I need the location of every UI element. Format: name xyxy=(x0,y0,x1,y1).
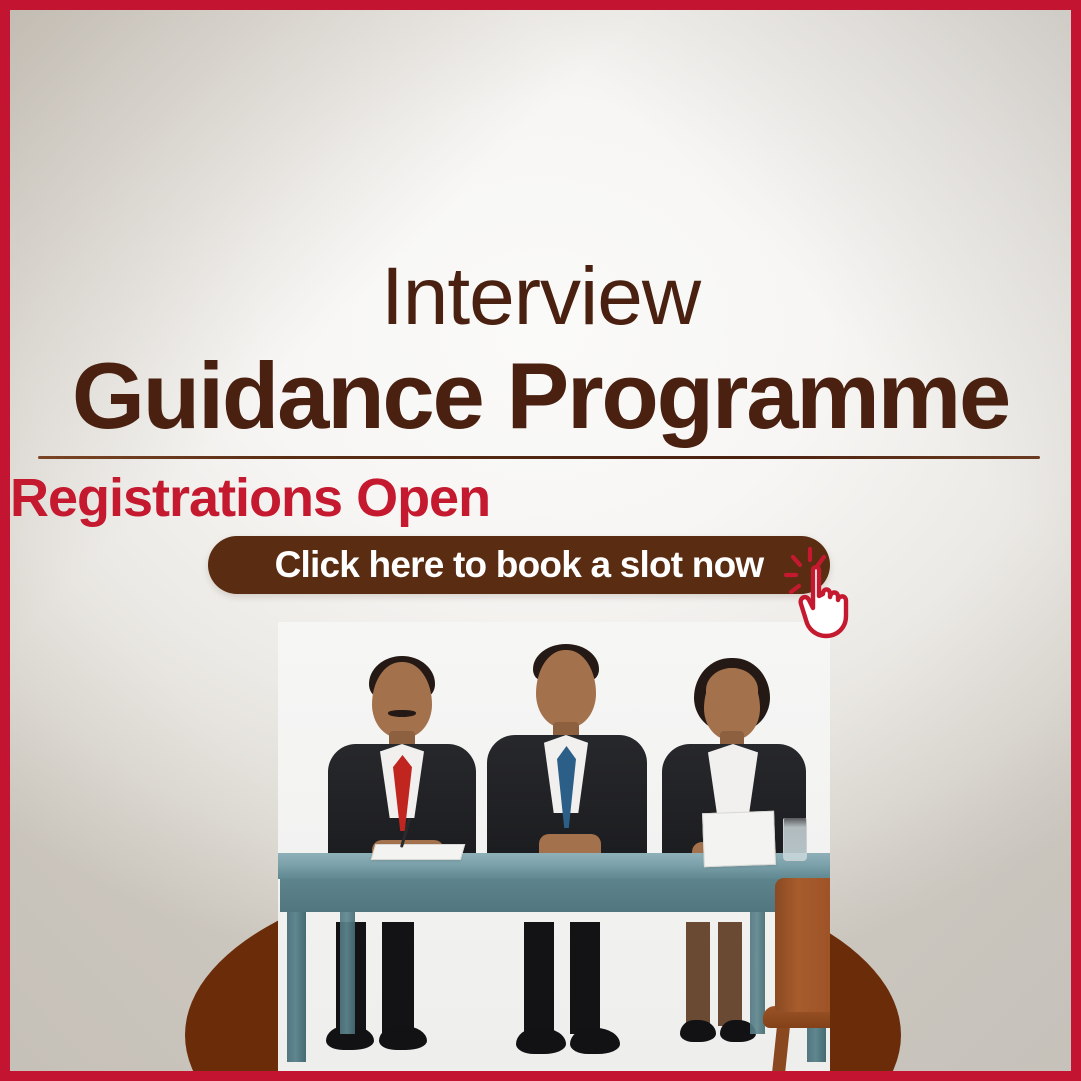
head xyxy=(536,650,596,728)
desk-leg-inner-left xyxy=(340,912,355,1034)
poster-inner-canvas: Interview Guidance Programme Registratio… xyxy=(10,10,1071,1071)
desk-apron xyxy=(280,879,830,912)
interview-scene xyxy=(10,622,1071,1071)
page-title-line-2: Guidance Programme xyxy=(10,342,1071,450)
desk-leg-left xyxy=(287,912,306,1062)
page-title-line-1: Interview xyxy=(10,249,1071,345)
chair-leg-left xyxy=(772,1025,790,1071)
chair-back xyxy=(775,878,830,1012)
trousers-center-a xyxy=(524,922,554,1034)
shoe-left-b xyxy=(379,1026,427,1050)
shoe-center-a xyxy=(516,1028,566,1054)
water-glass xyxy=(783,818,807,861)
shoe-right-a xyxy=(680,1020,716,1042)
subtitle-registrations-open: Registrations Open xyxy=(10,466,1071,530)
cta-container: Click here to book a slot now xyxy=(208,536,848,656)
moustache xyxy=(388,710,416,717)
head xyxy=(372,662,432,738)
book-slot-button-label: Click here to book a slot now xyxy=(275,546,764,583)
shoe-center-b xyxy=(570,1028,620,1054)
paper-on-desk xyxy=(371,844,466,860)
legs-right-b xyxy=(718,922,742,1026)
poster-canvas: Interview Guidance Programme Registratio… xyxy=(0,0,1081,1081)
held-paper xyxy=(702,811,776,867)
title-divider-rule xyxy=(38,456,1040,459)
book-slot-button[interactable]: Click here to book a slot now xyxy=(208,536,830,594)
empty-chair xyxy=(761,878,830,1071)
interview-photo xyxy=(278,622,830,1071)
trousers-left-b xyxy=(382,922,414,1034)
trousers-center-b xyxy=(570,922,600,1034)
legs-right-a xyxy=(686,922,710,1026)
head xyxy=(704,668,760,740)
